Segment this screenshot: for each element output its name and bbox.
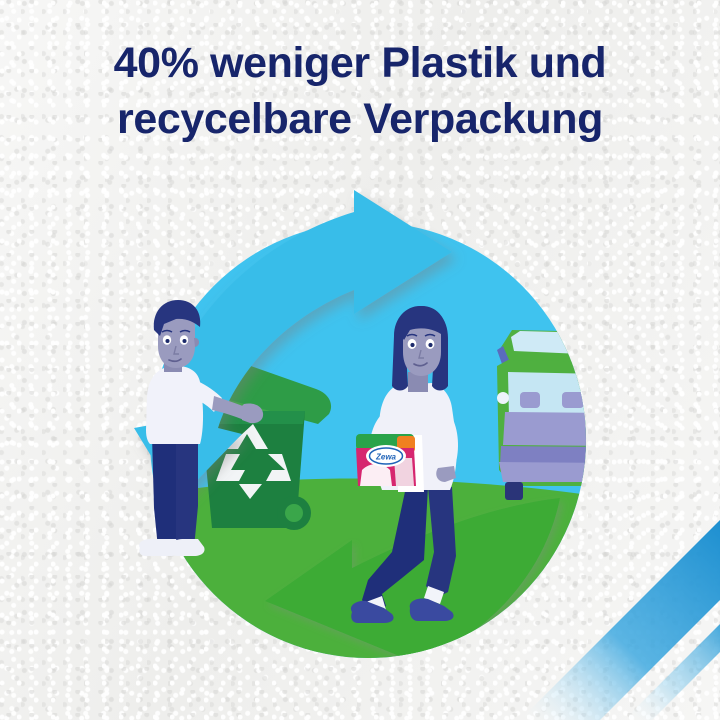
man-shoe-front bbox=[171, 539, 204, 556]
woman-pupil-left bbox=[410, 343, 414, 347]
bin-wheel-inner bbox=[285, 504, 303, 522]
man-leg-back bbox=[152, 436, 178, 548]
car-headrest-right bbox=[562, 392, 584, 408]
package-logo-text: Zewa bbox=[375, 453, 397, 462]
man-pupil-right bbox=[183, 339, 187, 343]
recycling-loop-illustration: Zewa bbox=[0, 0, 720, 720]
car-tail-light bbox=[497, 392, 509, 404]
man-pupil-left bbox=[166, 339, 170, 343]
man-tshirt bbox=[146, 366, 203, 444]
car bbox=[497, 330, 615, 500]
car-boot-lid bbox=[503, 412, 608, 446]
zewa-package: Zewa bbox=[356, 434, 424, 492]
man-leg-front bbox=[176, 436, 198, 548]
car-exhaust bbox=[505, 482, 523, 500]
car-headrest-left bbox=[520, 392, 540, 408]
car-bumper bbox=[499, 462, 612, 482]
woman-pupil-right bbox=[428, 343, 432, 347]
car-hatch-glass bbox=[511, 331, 605, 355]
recycling-banner: 40% weniger Plastik und recycelbare Verp… bbox=[0, 0, 720, 720]
